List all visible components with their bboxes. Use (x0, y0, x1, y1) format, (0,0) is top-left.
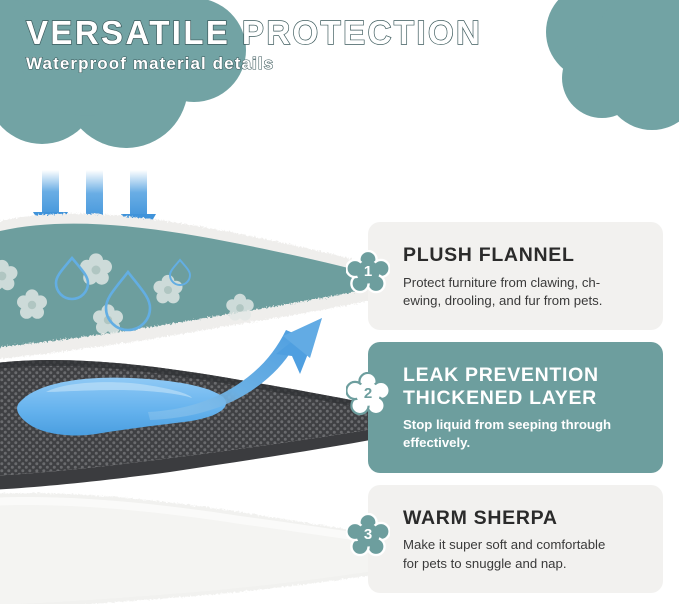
feature-card-plush-flannel[interactable]: 1 PLUSH FLANNEL Protect furniture from c… (368, 222, 663, 330)
sherpa-bottom-layer (0, 493, 392, 604)
fabric-layers-illustration (0, 168, 400, 604)
feature-card-warm-sherpa[interactable]: 3 WARM SHERPA Make it super soft and com… (368, 485, 663, 593)
header-block: VERSATILE PROTECTION Waterproof material… (26, 16, 482, 72)
card-body-3: Make it super soft and comfortable for p… (403, 536, 643, 572)
card-body-1: Protect furniture from clawing, ch- ewin… (403, 274, 643, 310)
badge-number-3-text: 3 (346, 513, 390, 557)
infographic-canvas: VERSATILE PROTECTION Waterproof material… (0, 0, 679, 604)
card-title-3: WARM SHERPA (403, 507, 643, 530)
feature-cards-list: 1 PLUSH FLANNEL Protect furniture from c… (368, 222, 663, 593)
badge-number-2: 2 (346, 372, 390, 416)
card-title-2: LEAK PREVENTION THICKENED LAYER (403, 364, 643, 409)
card-body-2: Stop liquid from seeping through effecti… (403, 416, 643, 452)
page-title: VERSATILE PROTECTION (26, 16, 482, 49)
badge-number-1-text: 1 (346, 250, 390, 294)
flannel-top-layer (0, 214, 392, 360)
badge-number-1: 1 (346, 250, 390, 294)
card-title-1: PLUSH FLANNEL (403, 244, 643, 267)
header-flower-blob-right (524, 0, 679, 146)
feature-card-leak-prevention[interactable]: 2 LEAK PREVENTION THICKENED LAYER Stop l… (368, 342, 663, 473)
page-subtitle: Waterproof material details (26, 55, 482, 72)
badge-number-3: 3 (346, 513, 390, 557)
badge-number-2-text: 2 (346, 372, 390, 416)
